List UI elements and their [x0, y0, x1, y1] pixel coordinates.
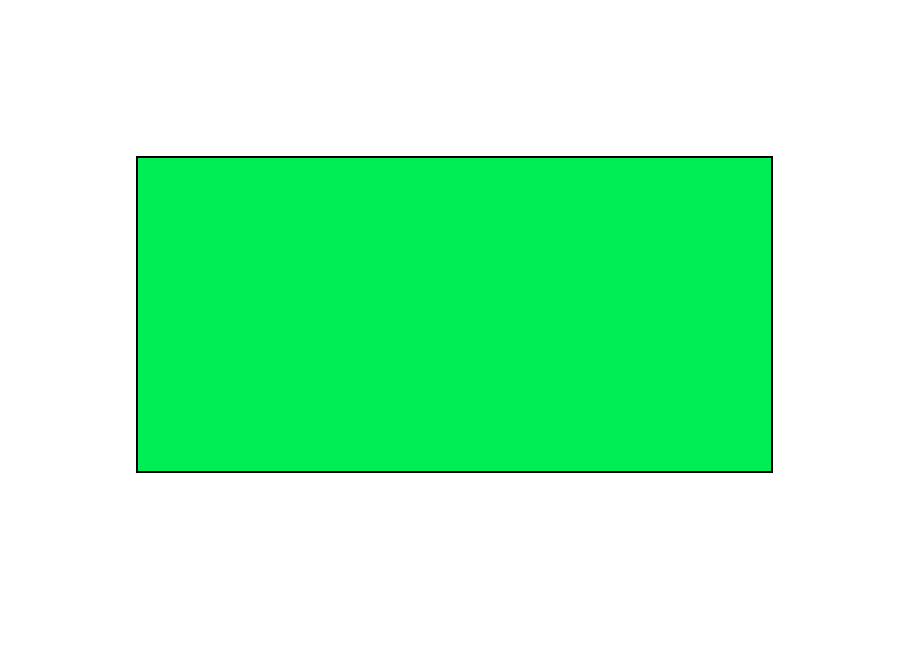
- contour-plot-area: [136, 156, 773, 473]
- colorbar: [780, 196, 804, 514]
- figure-canvas: [0, 0, 904, 654]
- contour-field: [138, 158, 771, 471]
